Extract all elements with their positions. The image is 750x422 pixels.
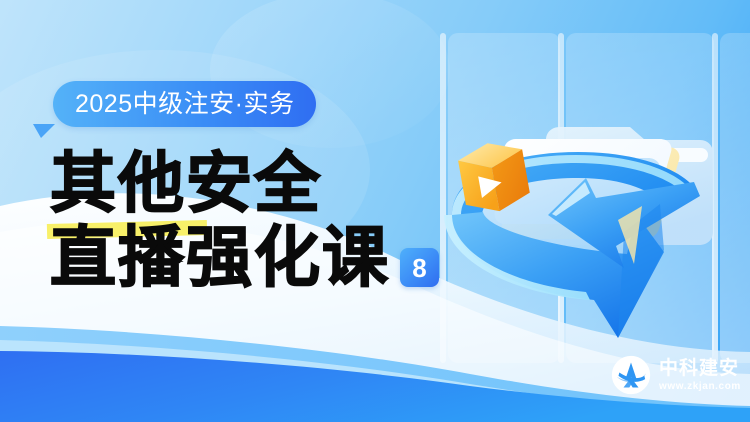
brand-logo[interactable]: 中科建安 www.zkjan.com: [611, 355, 741, 395]
badge-pill-tail: [33, 124, 55, 138]
category-badge: 2025中级注安·实务: [53, 81, 316, 127]
course-banner: 2025中级注安·实务 其他安全 直播强化课 8 中科建安 www.zkjan.…: [0, 0, 750, 422]
brand-mark-icon: [611, 355, 651, 395]
category-badge-label: 2025中级注安·实务: [75, 92, 294, 117]
episode-number: 8: [412, 255, 426, 281]
headline-line-2: 直播强化课: [50, 222, 390, 296]
brand-name: 中科建安: [659, 359, 741, 379]
headline-line-1: 其他安全: [50, 148, 322, 222]
headline-block: 其他安全 直播强化课 8: [50, 148, 439, 296]
brand-text: 中科建安 www.zkjan.com: [659, 359, 741, 392]
headline-line-1-row: 其他安全: [50, 148, 439, 222]
episode-number-badge: 8: [400, 248, 439, 287]
headline-line-2-row: 直播强化课 8: [50, 222, 439, 296]
brand-url: www.zkjan.com: [659, 381, 741, 392]
